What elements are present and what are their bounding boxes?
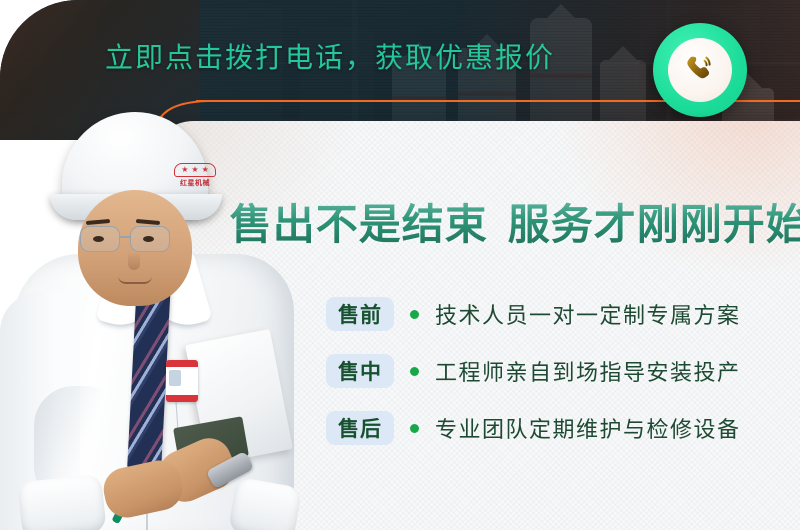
engineer-photo: ★ ★ ★ 红星机械 <box>0 86 300 530</box>
star-icon: ★ <box>181 166 188 174</box>
helmet-logo-text: 红星机械 <box>180 178 210 188</box>
phone-handset-icon <box>682 52 718 88</box>
helmet-brand-logo: ★ ★ ★ 红星机械 <box>166 160 224 190</box>
feature-text-presale: 技术人员一对一定制专属方案 <box>435 298 741 330</box>
slogan-part-2: 服务才刚刚开始 <box>508 191 800 252</box>
star-icon: ★ <box>202 166 209 174</box>
promo-banner-root: 立即点击拨打电话，获取优惠报价 <box>0 0 800 530</box>
bullet-dot-icon <box>410 367 419 376</box>
service-feature-list: 售前 技术人员一对一定制专属方案 售中 工程师亲自到场指导安装投产 售后 专业团… <box>326 293 756 464</box>
list-item: 售后 专业团队定期维护与检修设备 <box>326 407 756 449</box>
stage-badge-aftersale: 售后 <box>326 411 394 445</box>
feature-text-duringsale: 工程师亲自到场指导安装投产 <box>435 355 741 387</box>
stage-badge-presale: 售前 <box>326 297 394 331</box>
list-item: 售前 技术人员一对一定制专属方案 <box>326 293 756 335</box>
call-now-phone-button[interactable] <box>653 23 747 117</box>
list-item: 售中 工程师亲自到场指导安装投产 <box>326 350 756 392</box>
banner-headline: 立即点击拨打电话，获取优惠报价 <box>0 44 660 72</box>
bullet-dot-icon <box>410 310 419 319</box>
phone-icon-circle <box>668 38 732 102</box>
id-badge <box>166 360 198 402</box>
star-icon: ★ <box>191 166 198 174</box>
bullet-dot-icon <box>410 424 419 433</box>
feature-text-aftersale: 专业团队定期维护与检修设备 <box>435 412 741 444</box>
stage-badge-duringsale: 售中 <box>326 354 394 388</box>
